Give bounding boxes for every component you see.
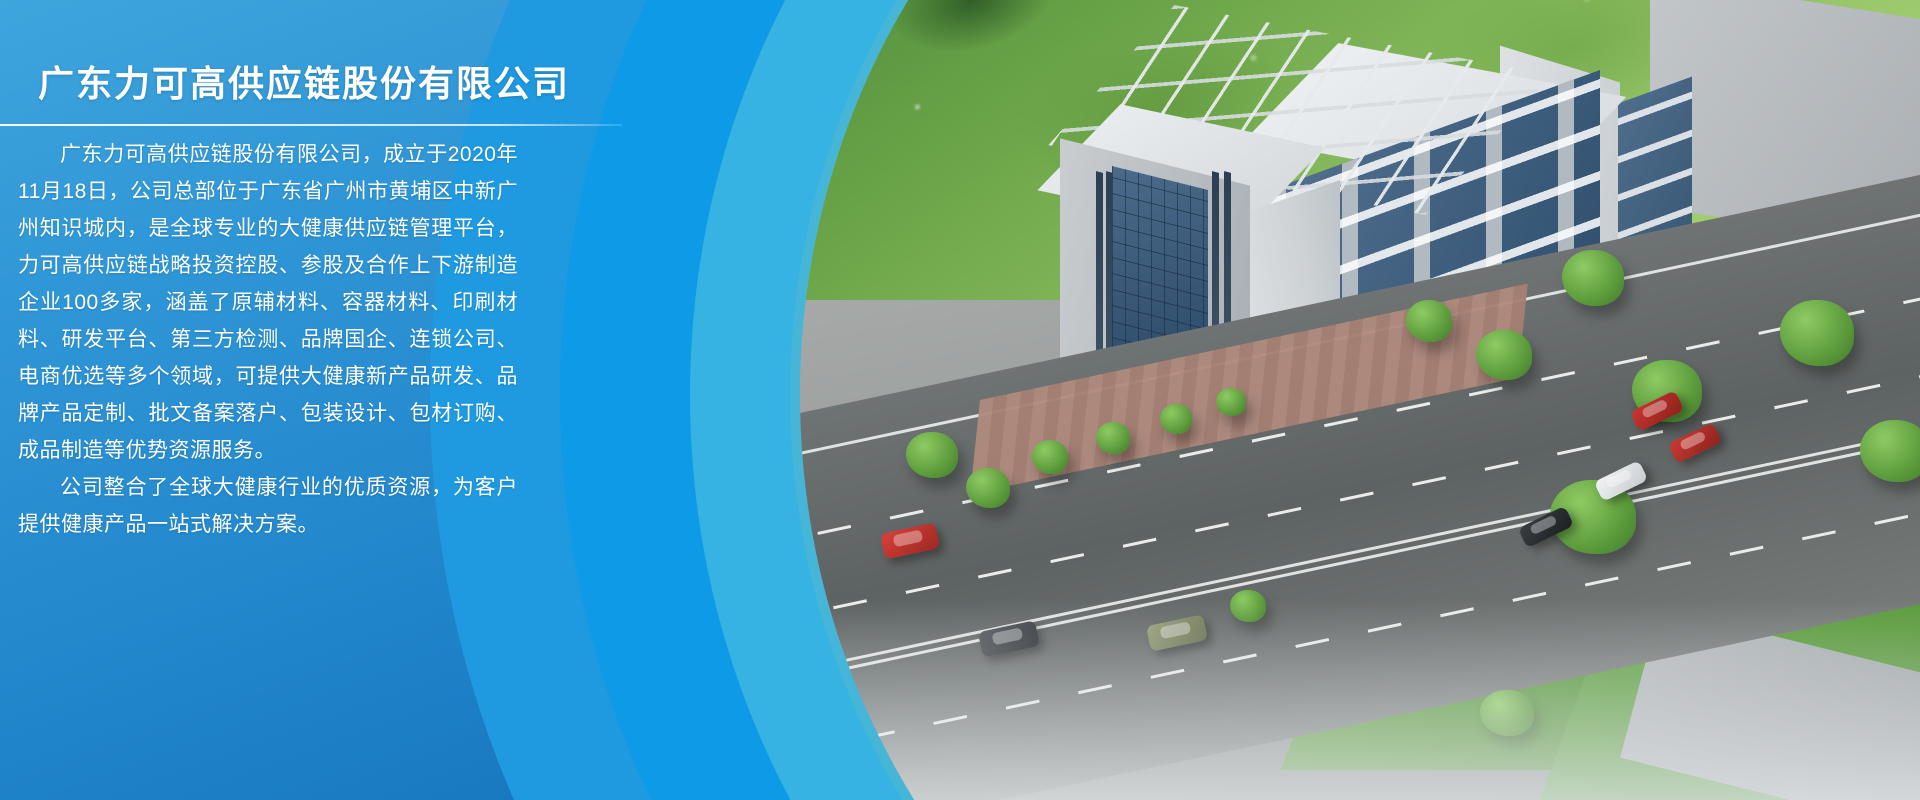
photo-bottom-haze [800, 600, 1920, 800]
paragraph-1: 广东力可高供应链股份有限公司，成立于2020年11月18日，公司总部位于广东省广… [18, 136, 518, 469]
tree [1406, 300, 1452, 342]
hero-banner: 广东力可高供应链股份有限公司 广东力可高供应链股份有限公司，成立于2020年11… [0, 0, 1920, 800]
title-divider [0, 124, 622, 126]
tree [1476, 330, 1532, 380]
building-photo-disc [800, 0, 1920, 800]
page-title: 广东力可高供应链股份有限公司 [38, 55, 570, 107]
tree [1780, 300, 1854, 366]
tree [1032, 440, 1068, 474]
tree [1562, 250, 1624, 306]
tree [966, 468, 1010, 508]
tree [906, 432, 958, 478]
tree [1160, 404, 1192, 434]
tree [1216, 388, 1246, 416]
company-description: 广东力可高供应链股份有限公司，成立于2020年11月18日，公司总部位于广东省广… [18, 136, 518, 543]
paragraph-2: 公司整合了全球大健康行业的优质资源，为客户提供健康产品一站式解决方案。 [18, 469, 518, 543]
building-rendering [800, 0, 1920, 800]
text-panel: 广东力可高供应链股份有限公司 广东力可高供应链股份有限公司，成立于2020年11… [0, 0, 700, 800]
tree [1096, 422, 1130, 454]
